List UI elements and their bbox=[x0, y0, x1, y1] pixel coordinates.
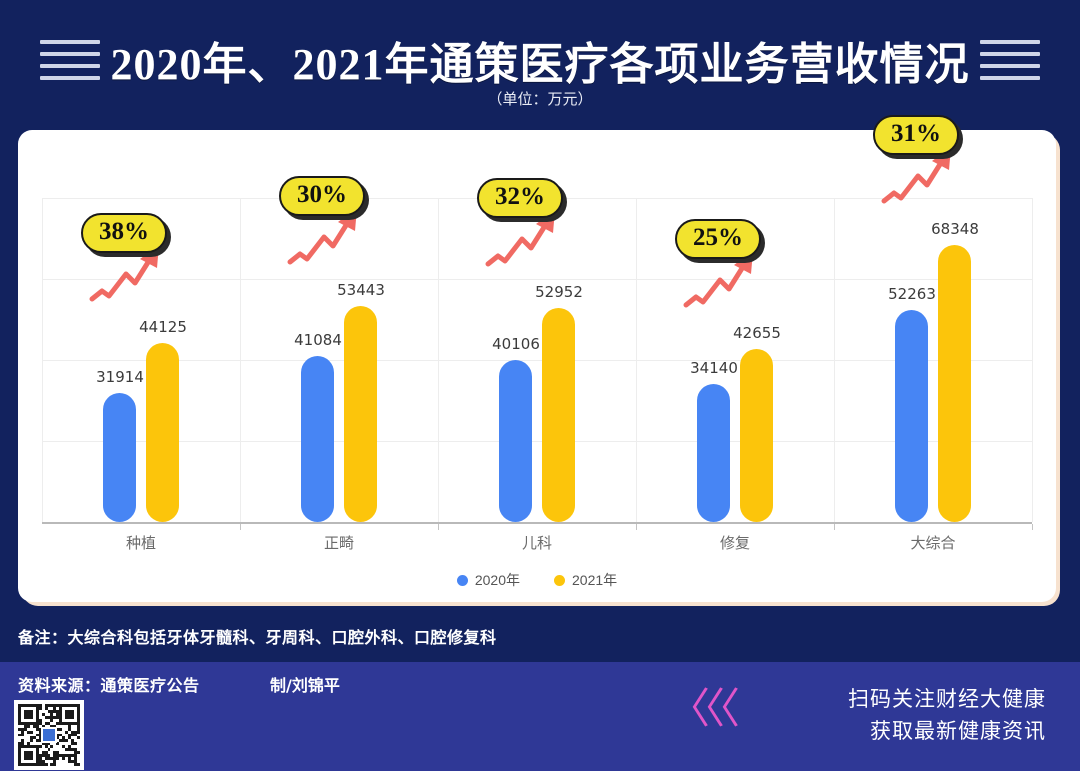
legend-label: 2020年 bbox=[475, 570, 520, 590]
bar-group: 522636834831% bbox=[895, 198, 971, 522]
legend-label: 2021年 bbox=[572, 570, 617, 590]
bar-value-label-2021: 68348 bbox=[910, 220, 1000, 238]
legend-item-2020年[interactable]: 2020年 bbox=[457, 570, 520, 590]
growth-badge: 32% bbox=[477, 178, 563, 218]
growth-badge: 38% bbox=[81, 213, 167, 253]
growth-badge: 30% bbox=[279, 176, 365, 216]
bar-2020[interactable] bbox=[499, 360, 532, 522]
x-axis-tick bbox=[438, 524, 439, 530]
gridline-vertical bbox=[42, 198, 43, 522]
bar-value-label-2020: 34140 bbox=[669, 359, 759, 377]
chart-legend: 2020年2021年 bbox=[18, 570, 1056, 590]
promo-line-1: 扫码关注财经大健康 bbox=[848, 684, 1046, 716]
bar-2020[interactable] bbox=[697, 384, 730, 522]
gridline-vertical bbox=[240, 198, 241, 522]
bar-value-label-2020: 31914 bbox=[75, 368, 165, 386]
bar-group: 410845344330% bbox=[301, 198, 377, 522]
x-axis-label-1: 种植 bbox=[71, 532, 211, 553]
page-subtitle: （单位：万元） bbox=[0, 88, 1080, 109]
legend-dot-icon bbox=[457, 575, 468, 586]
gridline-vertical bbox=[438, 198, 439, 522]
bar-value-label-2021: 52952 bbox=[514, 283, 604, 301]
x-axis-label-3: 儿科 bbox=[467, 532, 607, 553]
growth-badge: 25% bbox=[675, 219, 761, 259]
gridline-vertical bbox=[834, 198, 835, 522]
x-axis-tick bbox=[240, 524, 241, 530]
chart-card: 319144412538%410845344330%401065295232%3… bbox=[18, 130, 1056, 602]
bar-value-label-2020: 40106 bbox=[471, 335, 561, 353]
bar-value-label-2021: 44125 bbox=[118, 318, 208, 336]
bar-2020[interactable] bbox=[301, 356, 334, 522]
bar-group: 341404265525% bbox=[697, 198, 773, 522]
x-axis-label-4: 修复 bbox=[665, 532, 805, 553]
x-axis-tick bbox=[1032, 524, 1033, 530]
page-title: 2020年、2021年通策医疗各项业务营收情况 bbox=[0, 28, 1080, 92]
legend-dot-icon bbox=[554, 575, 565, 586]
source-text: 资料来源：通策医疗公告 bbox=[18, 672, 200, 696]
qr-code-pattern bbox=[18, 704, 80, 766]
bar-2020[interactable] bbox=[895, 310, 928, 522]
promo-text-block: 扫码关注财经大健康 获取最新健康资讯 bbox=[848, 684, 1046, 747]
bar-group: 319144412538% bbox=[103, 198, 179, 522]
growth-badge: 31% bbox=[873, 115, 959, 155]
header-bar: 2020年、2021年通策医疗各项业务营收情况 （单位：万元） bbox=[0, 0, 1080, 122]
x-axis-line bbox=[42, 522, 1032, 524]
x-axis-label-5: 大综合 bbox=[863, 532, 1003, 553]
bar-value-label-2020: 52263 bbox=[867, 285, 957, 303]
x-axis-tick bbox=[636, 524, 637, 530]
bar-value-label-2021: 53443 bbox=[316, 281, 406, 299]
promo-line-2: 获取最新健康资讯 bbox=[848, 716, 1046, 748]
legend-item-2021年[interactable]: 2021年 bbox=[554, 570, 617, 590]
x-axis-label-2: 正畸 bbox=[269, 532, 409, 553]
bar-value-label-2021: 42655 bbox=[712, 324, 802, 342]
note-text: 备注：大综合科包括牙体牙髓科、牙周科、口腔外科、口腔修复科 bbox=[18, 624, 497, 648]
gridline-vertical bbox=[1032, 198, 1033, 522]
bar-value-label-2020: 41084 bbox=[273, 331, 363, 349]
chevron-left-icon: 〈〈〈 bbox=[668, 688, 734, 730]
bar-group: 401065295232% bbox=[499, 198, 575, 522]
credit-text: 制/刘锦平 bbox=[270, 672, 340, 696]
bar-2020[interactable] bbox=[103, 393, 136, 522]
x-axis-tick bbox=[834, 524, 835, 530]
plot-area: 319144412538%410845344330%401065295232%3… bbox=[42, 198, 1032, 522]
gridline-vertical bbox=[636, 198, 637, 522]
qr-code[interactable] bbox=[14, 700, 84, 770]
